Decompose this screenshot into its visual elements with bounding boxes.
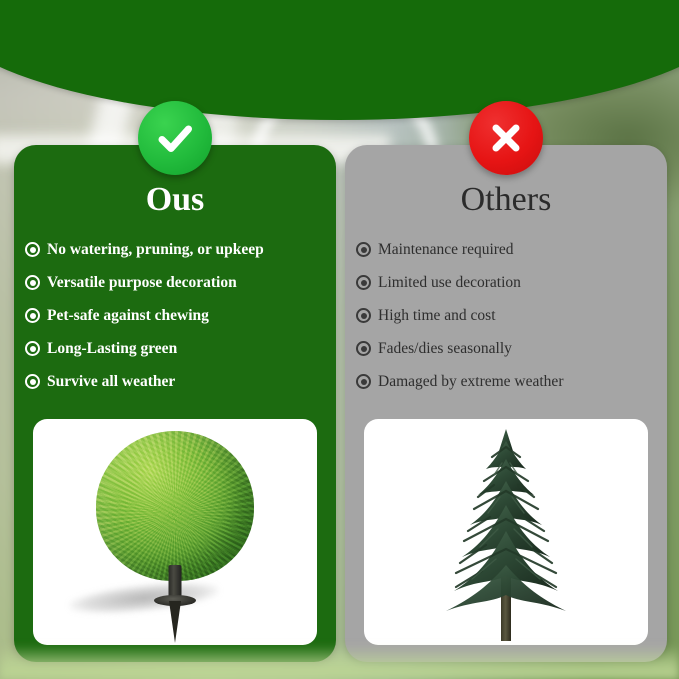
bullet-icon	[356, 341, 371, 356]
topiary-foliage-texture	[96, 431, 254, 581]
others-feature-list: Maintenance required Limited use decorat…	[356, 233, 659, 398]
feature-label: No watering, pruning, or upkeep	[47, 241, 264, 258]
topiary-shadow	[68, 577, 220, 619]
bullet-icon	[356, 275, 371, 290]
list-item: No watering, pruning, or upkeep	[25, 233, 328, 266]
topiary-ground-spike	[169, 601, 181, 643]
spruce-tree-illustration	[406, 425, 606, 645]
list-item: Versatile purpose decoration	[25, 266, 328, 299]
ours-product-photo	[33, 419, 317, 645]
bullet-icon	[25, 308, 40, 323]
ours-title: Ous	[14, 183, 336, 217]
list-item: Pet-safe against chewing	[25, 299, 328, 332]
feature-label: High time and cost	[378, 307, 496, 324]
list-item: Long-Lasting green	[25, 332, 328, 365]
others-card: Others Maintenance required Limited use …	[345, 145, 667, 662]
cross-circle-icon	[469, 101, 543, 175]
topiary-foliage	[96, 431, 254, 581]
check-circle-icon	[138, 101, 212, 175]
list-item: Limited use decoration	[356, 266, 659, 299]
feature-label: Damaged by extreme weather	[378, 373, 563, 390]
bullet-icon	[356, 374, 371, 389]
feature-label: Long-Lasting green	[47, 340, 177, 357]
feature-label: Survive all weather	[47, 373, 175, 390]
topiary-stem	[169, 565, 182, 599]
list-item: High time and cost	[356, 299, 659, 332]
comparison-infographic: Easier to Care for than Real Piants Ous …	[0, 0, 679, 679]
bullet-icon	[25, 374, 40, 389]
feature-label: Limited use decoration	[378, 274, 521, 291]
bullet-icon	[25, 242, 40, 257]
list-item: Fades/dies seasonally	[356, 332, 659, 365]
bullet-icon	[356, 242, 371, 257]
bullet-icon	[25, 275, 40, 290]
list-item: Damaged by extreme weather	[356, 365, 659, 398]
list-item: Maintenance required	[356, 233, 659, 266]
list-item: Survive all weather	[25, 365, 328, 398]
bullet-icon	[356, 308, 371, 323]
feature-label: Fades/dies seasonally	[378, 340, 512, 357]
feature-label: Pet-safe against chewing	[47, 307, 209, 324]
others-title: Others	[345, 183, 667, 217]
ours-feature-list: No watering, pruning, or upkeep Versatil…	[25, 233, 328, 398]
feature-label: Versatile purpose decoration	[47, 274, 237, 291]
others-product-photo	[364, 419, 648, 645]
bullet-icon	[25, 341, 40, 356]
ours-card: Ous No watering, pruning, or upkeep Vers…	[14, 145, 336, 662]
feature-label: Maintenance required	[378, 241, 514, 258]
